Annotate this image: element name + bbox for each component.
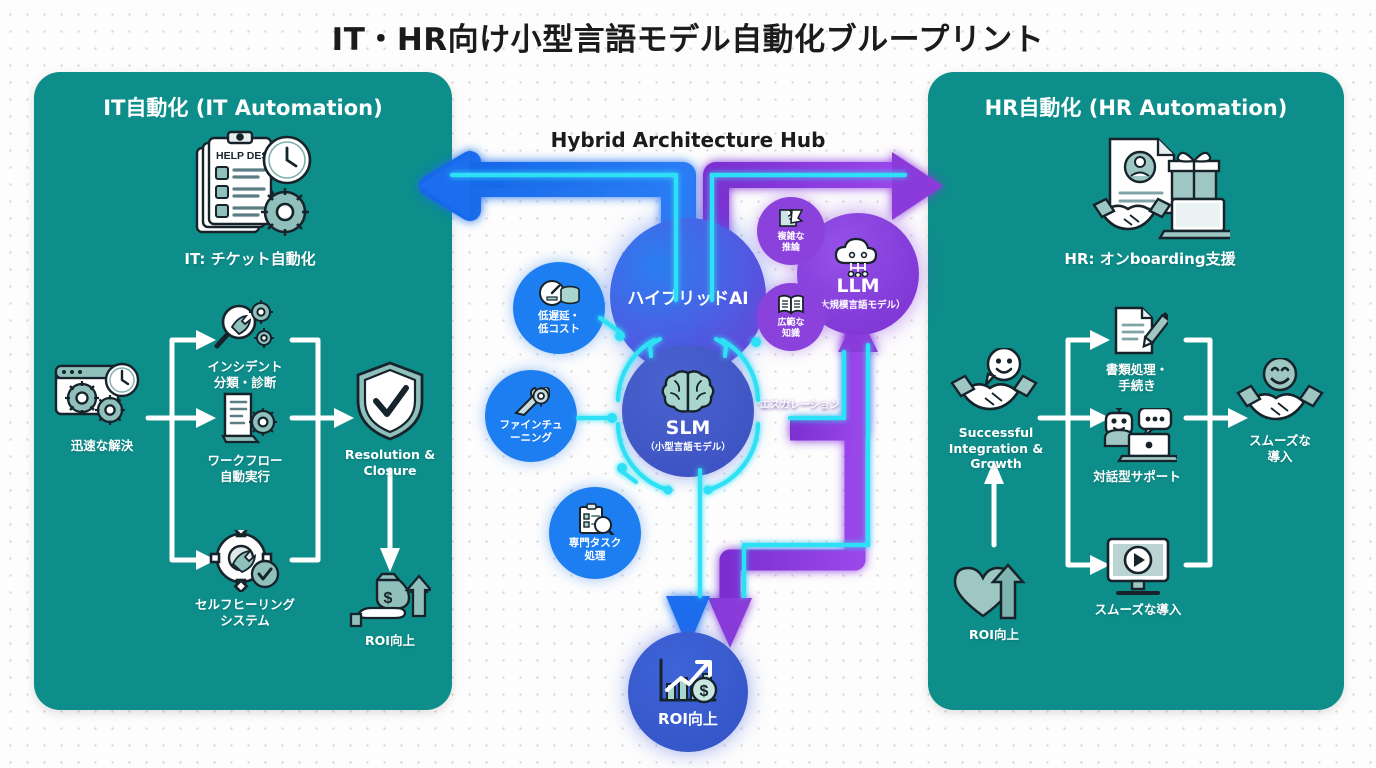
- hr-outcome-node: スムーズな 導入: [1228, 358, 1332, 464]
- hub-title: Hybrid Architecture Hub: [470, 128, 906, 152]
- slm-node[interactable]: SLM （小型言語モデル）: [622, 345, 754, 477]
- it-source-label: 迅速な解決: [52, 438, 152, 454]
- panel-hr-title: HR自動化 (HR Automation): [928, 92, 1344, 122]
- magnifier-wrench-gear-icon: [209, 300, 281, 354]
- wrench-gear-icon: [512, 387, 550, 417]
- llm-sublabel: （大規模言語モデル）: [810, 297, 905, 311]
- svg-text:$: $: [384, 590, 393, 607]
- heart-arrow-up-icon: [953, 562, 1035, 622]
- hr-outcome-label: スムーズな 導入: [1228, 433, 1332, 464]
- hr-source-node: Successful Integration & Growth: [944, 348, 1048, 472]
- slm-sublabel: （小型言語モデル）: [645, 439, 731, 453]
- hr-branch-1: 対話型サポート: [1083, 408, 1191, 485]
- puzzle-icon: [778, 208, 804, 230]
- handshake-smiley-icon: [948, 348, 1044, 420]
- slm-label: SLM: [666, 419, 711, 439]
- badge-low-latency[interactable]: 低遅延・ 低コスト: [513, 262, 605, 354]
- it-outcome-label: Resolution & Closure: [340, 447, 440, 478]
- hr-result-node: ROI向上: [946, 562, 1042, 643]
- svg-text:$: $: [700, 683, 709, 700]
- badge-specialized-task-label: 専門タスク 処理: [569, 537, 622, 562]
- open-book-icon: [777, 294, 805, 316]
- document-gear-icon: [209, 390, 281, 448]
- shield-check-icon: [352, 360, 428, 442]
- gear-wrench-check-icon: [207, 530, 283, 592]
- it-source-node: 迅速な解決: [52, 358, 152, 454]
- hr-branch-2: スムーズな導入: [1085, 535, 1191, 618]
- hr-branch-0-label: 書類処理・ 手続き: [1085, 362, 1189, 393]
- browser-clock-gears-icon: [52, 358, 152, 433]
- chatbot-laptop-icon: [1097, 408, 1177, 464]
- it-hero-label: IT: チケット自動化: [150, 250, 350, 269]
- monitor-play-icon: [1102, 535, 1174, 597]
- badge-low-latency-label: 低遅延・ 低コスト: [538, 310, 580, 335]
- hr-result-label: ROI向上: [946, 627, 1042, 643]
- it-outcome-node: Resolution & Closure: [340, 360, 440, 478]
- it-branch-0: インシデント 分類・診断: [190, 300, 300, 390]
- document-pen-icon: [1106, 305, 1168, 357]
- hybrid-ai-label: ハイブリッドAI: [627, 284, 748, 309]
- escalation-label: エスカレーション: [760, 396, 840, 411]
- badge-complex-reasoning-label: 複雑な 推論: [777, 232, 804, 254]
- arrow-slm-to-roi: [666, 470, 710, 648]
- growth-chart-dollar-icon: $: [655, 656, 721, 706]
- it-branch-0-label: インシデント 分類・診断: [190, 359, 300, 390]
- hr-hero-node: HR: オンboarding支援: [1040, 135, 1260, 269]
- hr-branch-0: 書類処理・ 手続き: [1085, 305, 1189, 393]
- llm-label: LLM: [836, 277, 879, 297]
- hr-source-label: Successful Integration & Growth: [944, 425, 1048, 472]
- badge-broad-knowledge-label: 広範な 知識: [777, 318, 804, 340]
- cloud-network-icon: [831, 237, 885, 277]
- roi-node[interactable]: $ ROI向上: [628, 632, 748, 752]
- page-title: IT・HR向け小型言語モデル自動化ブループリント: [0, 14, 1376, 59]
- speedometer-coins-icon: [538, 280, 580, 308]
- badge-broad-knowledge[interactable]: 広範な 知識: [757, 283, 825, 351]
- hand-moneybag-arrow-icon: $: [349, 570, 431, 628]
- badge-specialized-task[interactable]: 専門タスク 処理: [549, 487, 641, 579]
- brain-icon: [661, 369, 715, 417]
- handshake-document-gift-laptop-icon: [1070, 135, 1230, 245]
- it-branch-2-label: セルフヒーリング システム: [182, 597, 308, 628]
- hr-branch-2-label: スムーズな導入: [1085, 602, 1191, 618]
- checklist-search-icon: [576, 503, 614, 535]
- badge-fine-tuning-label: ファインチュ ーニング: [500, 419, 563, 444]
- it-hero-node: HELP DESK IT: チケット自動化: [150, 130, 350, 269]
- badge-complex-reasoning[interactable]: 複雑な 推論: [757, 197, 825, 265]
- it-result-node: $ ROI向上: [342, 570, 438, 649]
- helpdesk-clipboard-clock-gear-icon: HELP DESK: [175, 130, 325, 245]
- it-branch-1-label: ワークフロー 自動実行: [190, 453, 300, 484]
- hr-hero-label: HR: オンboarding支援: [1040, 250, 1260, 269]
- handshake-smiley-face-icon: [1232, 358, 1328, 428]
- panel-it-title: IT自動化 (IT Automation): [34, 92, 452, 122]
- it-branch-1: ワークフロー 自動実行: [190, 390, 300, 484]
- hr-branch-1-label: 対話型サポート: [1083, 469, 1191, 485]
- it-result-label: ROI向上: [342, 633, 438, 649]
- it-branch-2: セルフヒーリング システム: [182, 530, 308, 628]
- badge-fine-tuning[interactable]: ファインチュ ーニング: [485, 370, 577, 462]
- roi-label: ROI向上: [658, 708, 718, 729]
- infographic-canvas: IT・HR向け小型言語モデル自動化ブループリント: [0, 0, 1376, 768]
